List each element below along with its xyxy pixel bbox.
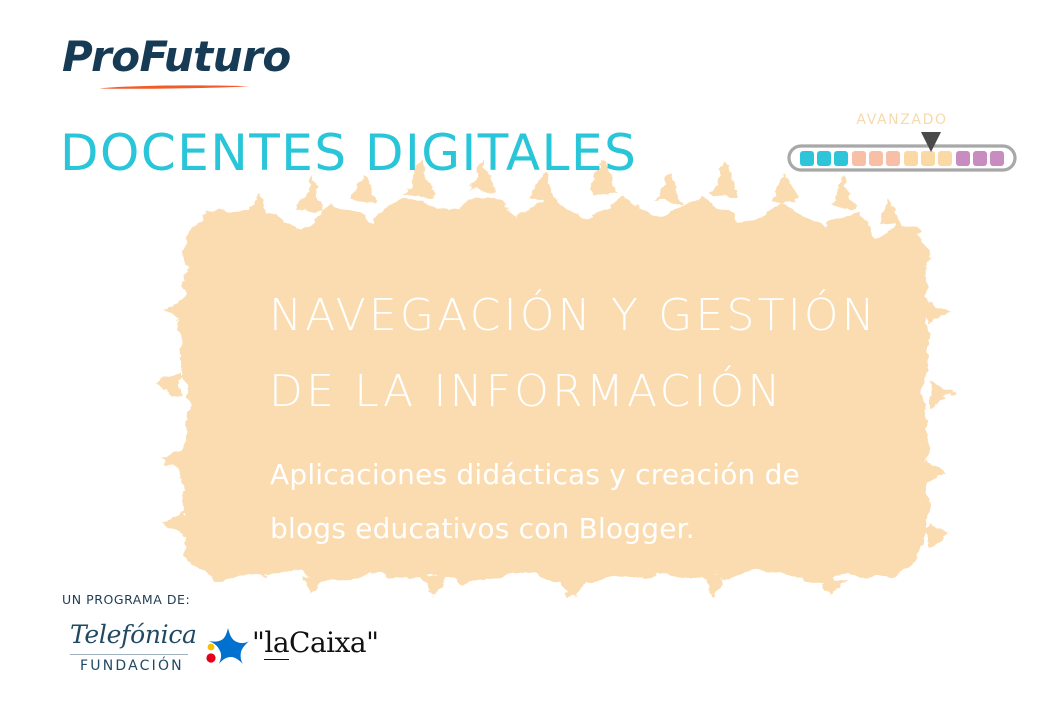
program-title-text: DOCENTES DIGITALES (60, 126, 637, 182)
level-segment-12 (990, 151, 1004, 166)
level-segment-10 (956, 151, 970, 166)
level-segments (800, 151, 1004, 166)
hero-subtitle-line-2: blogs educativos con Blogger. (270, 512, 695, 545)
level-segment-2 (817, 151, 831, 166)
program-title: DOCENTES DIGITALES (60, 126, 680, 182)
level-indicator: AVANZADO (786, 112, 1018, 174)
level-segment-9 (938, 151, 952, 166)
profuturo-logo: ProFuturo (62, 34, 292, 96)
level-progress-bar[interactable] (786, 138, 1018, 174)
hero-subtitle-line-1: Aplicaciones didácticas y creación de (270, 458, 800, 491)
lacaixa-star-icon (204, 626, 250, 666)
lacaixa-red-dot (206, 653, 215, 662)
footer: UN PROGRAMA DE: Telefónica FUNDACIÓN "la… (62, 592, 482, 688)
lacaixa-word-caixa: Caixa (289, 626, 366, 659)
telefonica-wordmark: Telefónica (70, 620, 190, 650)
level-segment-7 (904, 151, 918, 166)
profuturo-underline-stroke (72, 84, 277, 90)
lacaixa-wordmark: "laCaixa" (252, 626, 379, 660)
level-segment-1 (800, 151, 814, 166)
lacaixa-logo: "laCaixa" (204, 624, 379, 672)
level-segment-8 (921, 151, 935, 166)
level-segment-4 (852, 151, 866, 166)
hero-title-line-1: NAVEGACIÓN Y GESTIÓN (269, 288, 878, 341)
sponsor-logos: Telefónica FUNDACIÓN "laCaixa" (62, 620, 482, 682)
hero-title: NAVEGACIÓN Y GESTIÓN DE LA INFORMACIÓN (265, 282, 915, 422)
lacaixa-yellow-dot (208, 644, 215, 651)
lacaixa-word-la: la (264, 626, 289, 660)
level-segment-5 (869, 151, 883, 166)
slide-canvas: ProFuturo DOCENTES DIGITALES AVANZADO (0, 0, 1040, 720)
lacaixa-quote-close: " (366, 626, 378, 659)
hero-subtitle: Aplicaciones didácticas y creación de bl… (268, 452, 928, 556)
footer-caption: UN PROGRAMA DE: (62, 592, 482, 607)
level-label: AVANZADO (786, 112, 1018, 128)
level-segment-3 (834, 151, 848, 166)
level-segment-11 (973, 151, 987, 166)
profuturo-wordmark: ProFuturo (62, 34, 292, 80)
level-segment-6 (886, 151, 900, 166)
hero-title-line-2: DE LA INFORMACIÓN (269, 364, 784, 417)
telefonica-fundacion-logo: Telefónica FUNDACIÓN (70, 620, 190, 678)
telefonica-divider (70, 654, 188, 655)
level-pointer-arrow (920, 131, 942, 153)
lacaixa-quote-open: " (252, 626, 264, 659)
telefonica-fundacion-label: FUNDACIÓN (80, 658, 184, 674)
